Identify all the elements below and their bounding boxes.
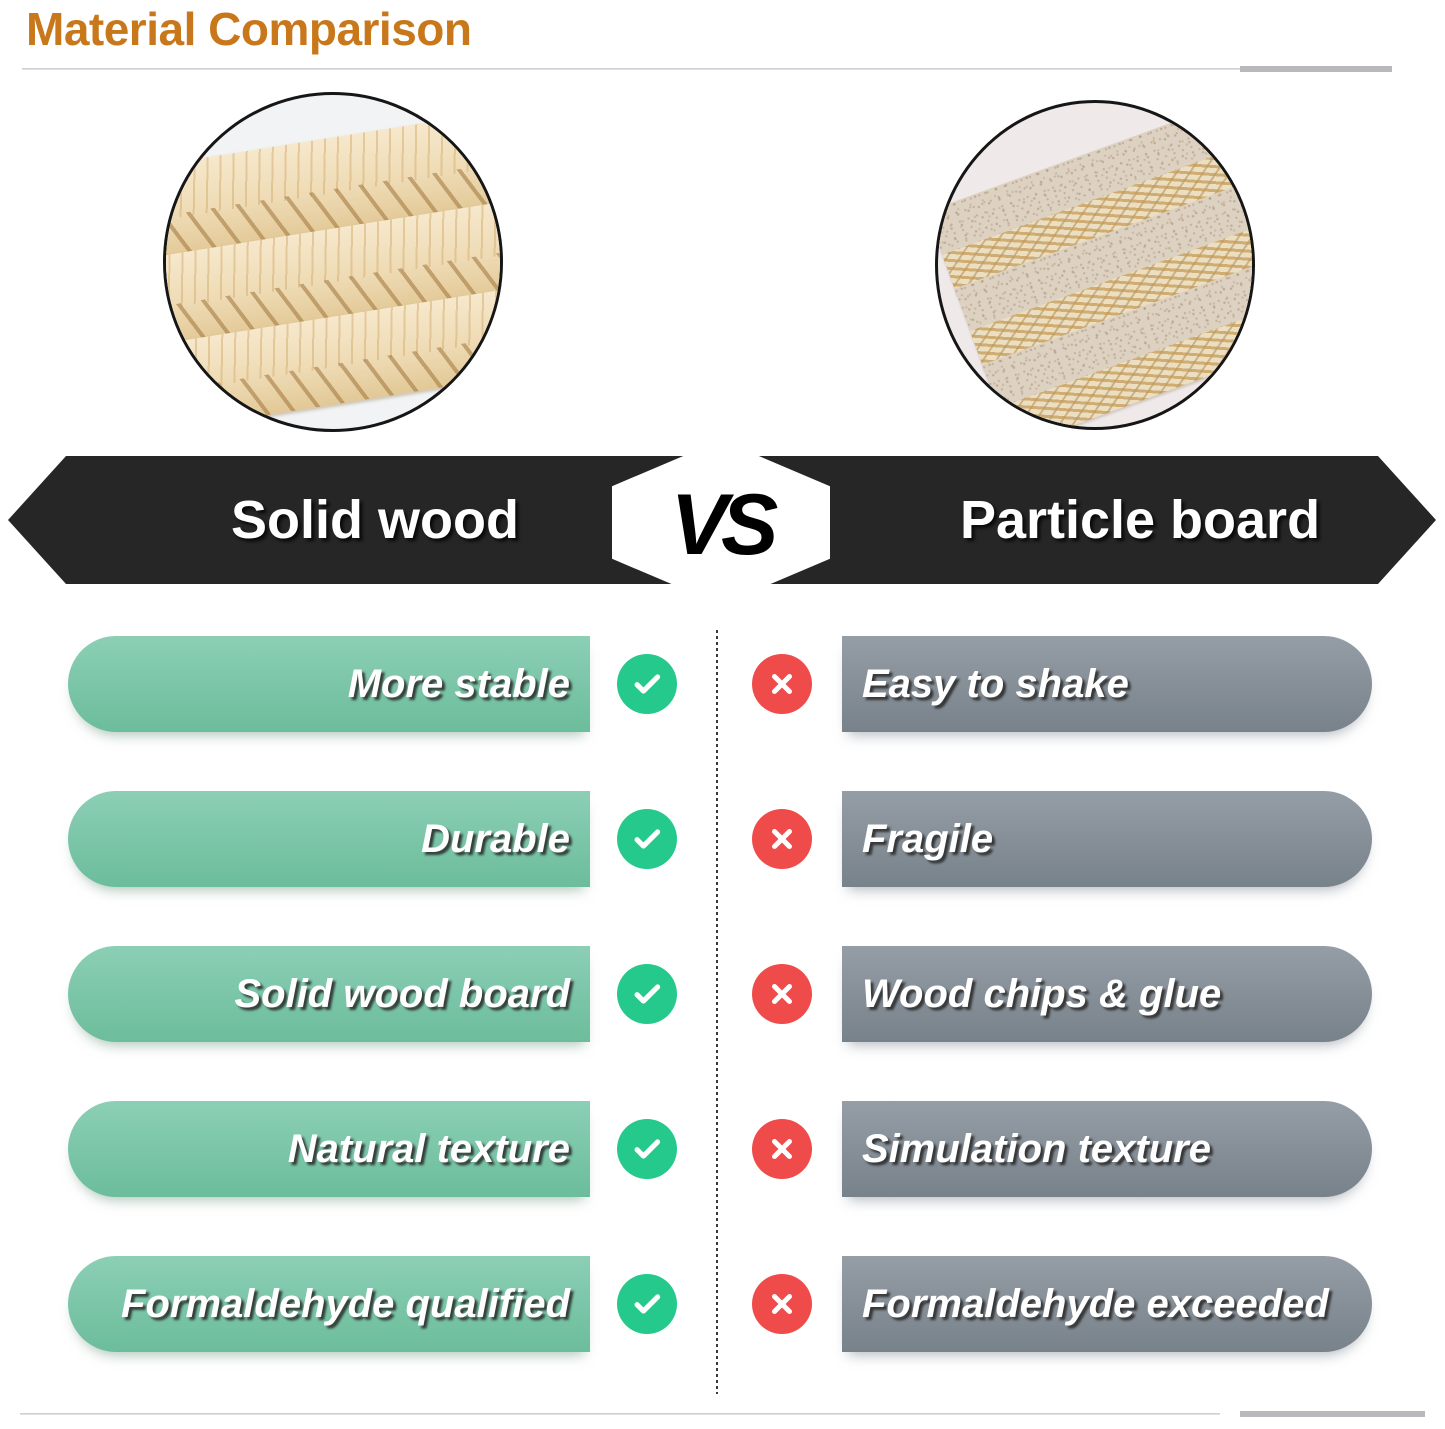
con-label: Formaldehyde exceeded bbox=[862, 1282, 1329, 1327]
header-rule-thick bbox=[1240, 66, 1392, 72]
con-bar: Fragile bbox=[842, 791, 1372, 887]
solid-wood-photo bbox=[163, 92, 503, 432]
comparison-rows: More stable Easy to shake Durable bbox=[0, 630, 1445, 1405]
banner-label-right: Particle board bbox=[905, 456, 1375, 584]
pro-label: Formaldehyde qualified bbox=[121, 1282, 570, 1327]
pro-label: Natural texture bbox=[288, 1127, 570, 1172]
pro-label: Solid wood board bbox=[234, 972, 570, 1017]
con-label: Fragile bbox=[862, 817, 993, 862]
footer-rule-thin bbox=[20, 1413, 1220, 1415]
con-label: Simulation texture bbox=[862, 1127, 1211, 1172]
particle-board-artwork bbox=[935, 100, 1255, 430]
infographic-page: Material Comparison Solid wood Particle … bbox=[0, 0, 1445, 1429]
header-rule-thin bbox=[22, 68, 1244, 70]
check-icon bbox=[617, 964, 677, 1024]
pro-bar: Natural texture bbox=[68, 1101, 590, 1197]
con-label: Wood chips & glue bbox=[862, 972, 1221, 1017]
table-row: Durable Fragile bbox=[0, 785, 1445, 940]
table-row: Solid wood board Wood chips & glue bbox=[0, 940, 1445, 1095]
page-title: Material Comparison bbox=[26, 2, 472, 56]
pro-label: More stable bbox=[348, 662, 570, 707]
pro-bar: Formaldehyde qualified bbox=[68, 1256, 590, 1352]
cross-icon bbox=[752, 809, 812, 869]
vs-label: VS bbox=[612, 440, 830, 605]
table-row: Natural texture Simulation texture bbox=[0, 1095, 1445, 1250]
con-bar: Simulation texture bbox=[842, 1101, 1372, 1197]
pro-label: Durable bbox=[421, 817, 570, 862]
cross-icon bbox=[752, 1274, 812, 1334]
con-label: Easy to shake bbox=[862, 662, 1129, 707]
wood-plank-artwork bbox=[163, 92, 503, 432]
table-row: More stable Easy to shake bbox=[0, 630, 1445, 785]
banner-label-left: Solid wood bbox=[165, 456, 585, 584]
pro-bar: More stable bbox=[68, 636, 590, 732]
footer-rule-thick bbox=[1240, 1411, 1425, 1417]
pro-bar: Solid wood board bbox=[68, 946, 590, 1042]
table-row: Formaldehyde qualified Formaldehyde exce… bbox=[0, 1250, 1445, 1405]
check-icon bbox=[617, 654, 677, 714]
check-icon bbox=[617, 1119, 677, 1179]
con-bar: Wood chips & glue bbox=[842, 946, 1372, 1042]
check-icon bbox=[617, 809, 677, 869]
particle-board-photo bbox=[935, 100, 1255, 430]
cross-icon bbox=[752, 1119, 812, 1179]
pro-bar: Durable bbox=[68, 791, 590, 887]
con-bar: Easy to shake bbox=[842, 636, 1372, 732]
cross-icon bbox=[752, 654, 812, 714]
con-bar: Formaldehyde exceeded bbox=[842, 1256, 1372, 1352]
cross-icon bbox=[752, 964, 812, 1024]
check-icon bbox=[617, 1274, 677, 1334]
